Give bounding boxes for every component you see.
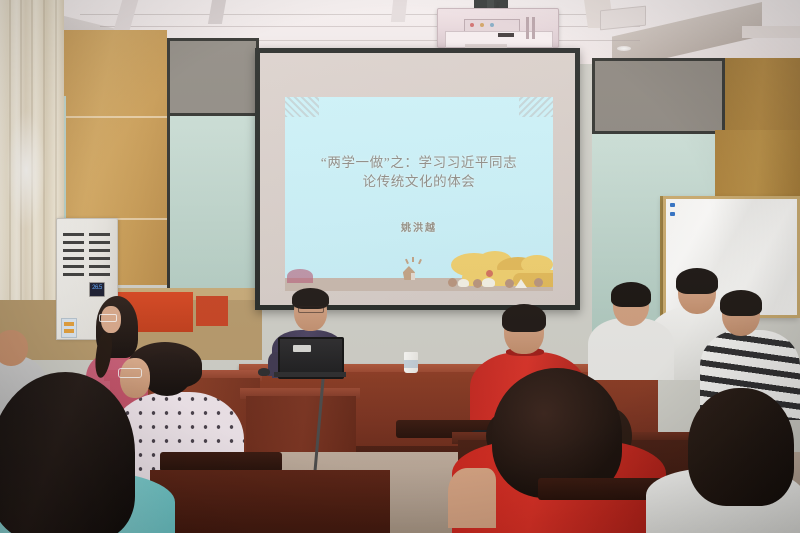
- ceiling-panel: [742, 26, 800, 38]
- wall-dark-panel-left: [167, 38, 259, 116]
- whiteboard-magnet-icon[interactable]: [670, 203, 675, 207]
- audience-arm: [448, 468, 496, 528]
- slide-art-spark-icon: [418, 259, 421, 264]
- ceiling-light-icon: [617, 46, 631, 51]
- audience-person: [588, 318, 674, 380]
- ac-temperature-value: 26.5: [90, 283, 104, 294]
- ceiling-line: [100, 26, 640, 27]
- audience-head: [120, 358, 150, 398]
- projector-indicator-icon: [490, 23, 494, 27]
- laptop-sticker: [293, 345, 311, 352]
- slide-art-figure-icon: [482, 278, 495, 287]
- paper-cup-pattern: [404, 360, 418, 368]
- slide-art-dot-icon: [486, 270, 493, 277]
- computer-mouse[interactable]: [258, 368, 270, 376]
- slide-art-mountain-icon: [515, 279, 527, 288]
- wall-dark-panel-right: [592, 58, 725, 134]
- air-conditioner-display: 26.5: [89, 282, 105, 297]
- audience-glasses-icon: [99, 314, 117, 322]
- slide-art-hut-door-icon: [411, 273, 415, 280]
- slide-author: 姚洪越: [285, 219, 553, 234]
- projector-indicator-icon: [470, 23, 474, 27]
- slide-art-dot-icon: [505, 279, 514, 288]
- lecture-room-photo: 26.5 “两学一做”之：学习习近平同志 论传统文化的体会 姚洪越: [0, 0, 800, 533]
- slide-title-line-1: “两学一做”之：学习习近平同志: [285, 153, 553, 172]
- slide-art-dot-icon: [473, 279, 482, 288]
- audience-hair-long: [0, 372, 135, 533]
- laptop-base: [274, 372, 346, 377]
- presentation-slide: “两学一做”之：学习习近平同志 论传统文化的体会 姚洪越: [285, 97, 553, 291]
- projector-indicator-icon: [480, 23, 484, 27]
- projector-connector: [498, 33, 514, 37]
- air-conditioner-sticker: [61, 318, 77, 338]
- slide-title: “两学一做”之：学习习近平同志 论传统文化的体会: [285, 153, 553, 191]
- slide-art-figure-icon: [458, 279, 469, 287]
- slide-ornament-corner-icon: [285, 97, 319, 117]
- audience-hair: [611, 282, 651, 307]
- front-bench: [150, 470, 390, 533]
- audience-hair: [688, 388, 794, 506]
- ceiling-beam: [391, 0, 407, 22]
- projector-vent: [532, 17, 535, 39]
- slide-art-spark-icon: [412, 257, 414, 262]
- slide-ornament-corner-icon: [519, 97, 553, 117]
- chair-front-left: [160, 452, 282, 472]
- projected-light-area: “两学一做”之：学习习近平同志 论传统文化的体会 姚洪越: [260, 53, 575, 305]
- red-wall-panel-small: [196, 296, 228, 326]
- audience-hair: [502, 304, 546, 332]
- slide-art-spark-icon: [405, 259, 408, 264]
- speaker-glasses-icon: [298, 306, 324, 313]
- ceiling-projector: [437, 8, 559, 48]
- slide-art-bush-icon: [287, 269, 313, 283]
- audience-hair: [676, 268, 718, 294]
- slide-decorative-artwork: [285, 247, 553, 291]
- audience-hair: [720, 290, 762, 316]
- slide-title-line-2: 论传统文化的体会: [285, 172, 553, 191]
- window-light-glow: [6, 110, 46, 230]
- projection-screen: “两学一做”之：学习习近平同志 论传统文化的体会 姚洪越: [255, 48, 580, 310]
- whiteboard-magnet-icon[interactable]: [670, 212, 675, 216]
- audience-glasses-icon: [118, 368, 142, 378]
- projector-vent: [526, 17, 529, 39]
